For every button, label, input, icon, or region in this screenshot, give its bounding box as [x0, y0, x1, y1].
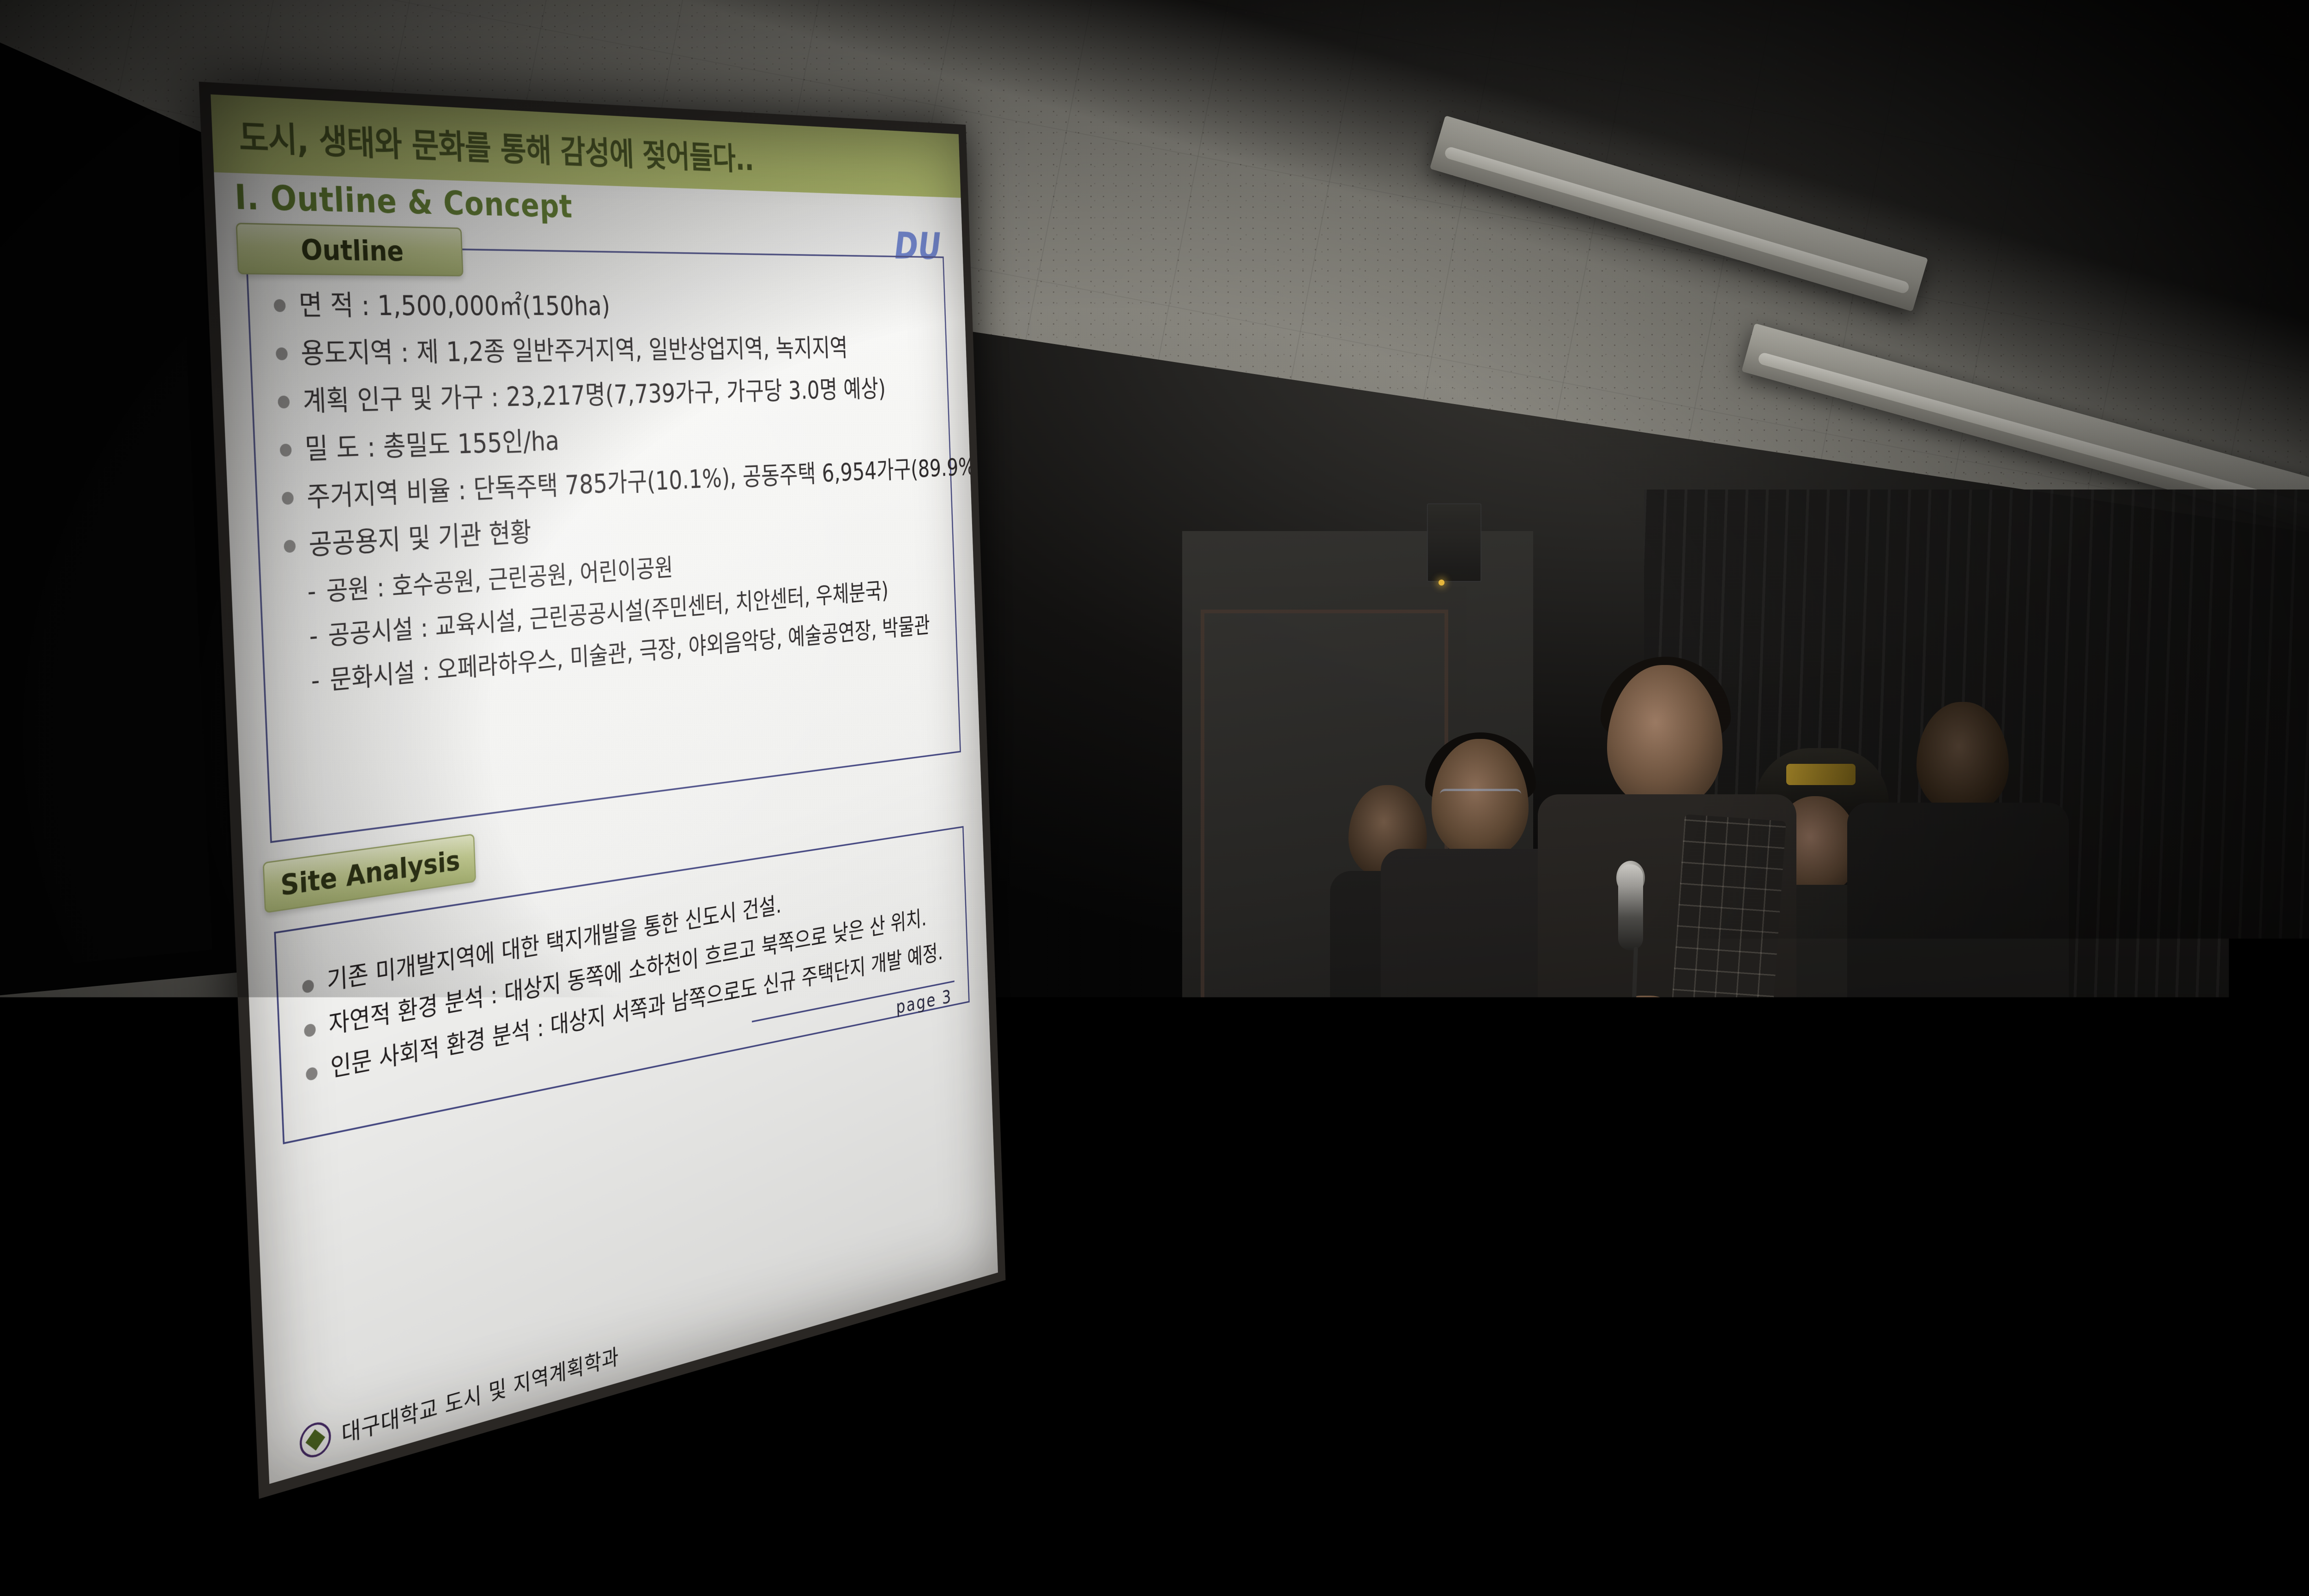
board-support-strut [0, 1076, 104, 1101]
site-plan-map [0, 1125, 247, 1596]
speaker-power-led-icon [1439, 580, 1445, 586]
site-analysis-bullet-list: 기존 미개발지역에 대한 택지개발을 통한 신도시 건설. 자연적 환경 분석 … [294, 861, 956, 1093]
outline-panel: 면 적 : 1,500,000㎡(150ha) 용도지역 : 제 1,2종 일반… [245, 245, 961, 843]
board-support-strut [0, 1052, 4, 1190]
list-item: 용도지역 : 제 1,2종 일반주거지역, 일반상업지역, 녹지지역 [267, 330, 935, 374]
wall-speaker [1427, 503, 1481, 582]
hand [1613, 996, 1683, 1074]
torso [1847, 803, 2069, 1376]
plaid-shirt [1668, 814, 1786, 1061]
shoes [1492, 1409, 1626, 1459]
section-tab-site-analysis: Site Analysis [263, 834, 476, 913]
printed-handout [1760, 1130, 1893, 1295]
head [1916, 702, 2009, 813]
outline-bullet-list: 면 적 : 1,500,000㎡(150ha) 용도지역 : 제 1,2종 일반… [266, 285, 940, 567]
cap-logo [1786, 764, 1856, 785]
list-item: 면 적 : 1,500,000㎡(150ha) [266, 285, 933, 326]
handheld-microphone [1618, 864, 1643, 950]
jacket-patch [1695, 1053, 1773, 1078]
section-tab-outline: Outline [236, 223, 463, 276]
jacket-emblem [1408, 1205, 1453, 1235]
slide-band-title: 도시, 생태와 문화를 통해 감성에 젖어들다.. [238, 109, 754, 179]
projection-screen: 도시, 생태와 문화를 통해 감성에 젖어들다.. Ⅰ. Outline & C… [199, 82, 1006, 1499]
university-seal-icon [299, 1419, 332, 1461]
presentation-slide: 도시, 생태와 문화를 통해 감성에 젖어들다.. Ⅰ. Outline & C… [211, 94, 998, 1484]
photo-scene: 도시, 생태와 문화를 통해 감성에 젖어들다.. Ⅰ. Outline & C… [0, 0, 2309, 1596]
projection-screen-surface: 도시, 생태와 문화를 통해 감성에 젖어들다.. Ⅰ. Outline & C… [211, 94, 998, 1484]
eyeglasses-icon [1440, 789, 1521, 807]
